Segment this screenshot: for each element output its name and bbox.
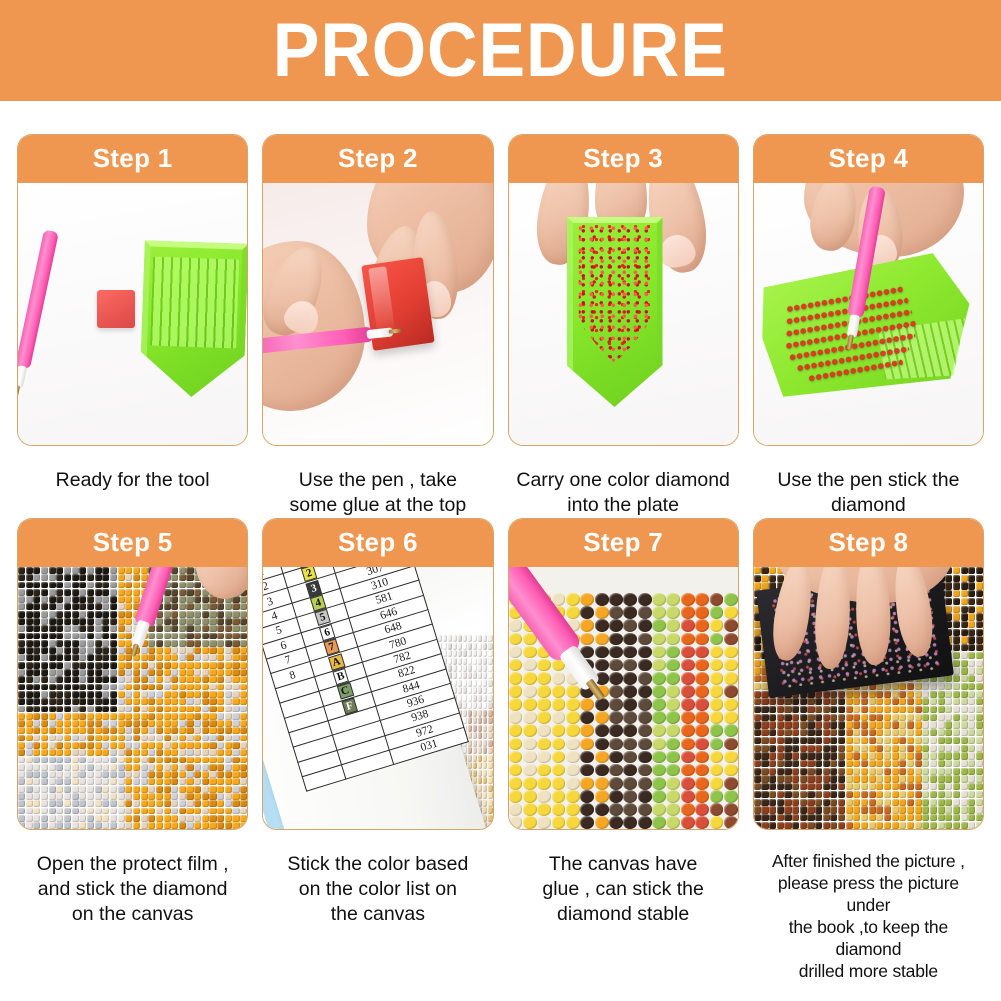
mosaic-pixel [681,619,695,632]
mosaic-pixel [202,706,209,713]
mosaic-pixel [838,729,845,736]
mosaic-pixel [792,783,799,790]
mosaic-pixel [777,760,784,767]
mosaic-pixel [186,771,193,778]
mosaic-pixel [961,598,968,605]
mosaic-pixel [56,596,63,603]
step-card-3[interactable]: Step 3 [508,134,739,446]
step-cell-4: Step 4 [753,134,984,518]
mosaic-pixel [133,669,140,676]
mosaic-pixel [724,711,738,724]
mosaic-pixel [141,698,148,705]
mosaic-pixel [217,815,224,822]
mosaic-pixel [945,706,952,713]
mosaic-pixel [609,659,623,672]
mosaic-pixel [652,790,666,803]
mosaic-pixel [148,778,155,785]
mosaic-pixel [652,711,666,724]
mosaic-pixel [79,808,86,815]
step-card-6[interactable]: Step 6 Symbol Stitches DMC 112 [262,518,493,830]
mosaic-pixel [125,567,132,574]
mosaic-pixel [56,582,63,589]
mosaic-pixel [87,808,94,815]
mosaic-pixel [56,771,63,778]
mosaic-pixel [133,582,140,589]
step-card-2[interactable]: Step 2 [262,134,493,446]
mosaic-pixel [761,806,768,813]
mosaic-pixel [884,691,891,698]
mosaic-pixel [148,720,155,727]
mosaic-pixel [922,729,929,736]
mosaic-pixel [87,676,94,683]
mosaic-pixel [110,757,117,764]
mosaic-pixel [907,760,914,767]
mosaic-pixel [56,589,63,596]
mosaic-pixel [869,737,876,744]
mosaic-pixel [784,752,791,759]
mosaic-pixel [815,752,822,759]
mosaic-pixel [846,768,853,775]
mosaic-pixel [892,760,899,767]
mosaic-pixel [853,799,860,806]
mosaic-pixel [171,815,178,822]
mosaic-pixel [225,662,232,669]
mosaic-pixel [79,793,86,800]
mosaic-pixel [87,654,94,661]
mosaic-pixel [566,711,580,724]
mosaic-pixel [240,684,247,691]
mosaic-pixel [156,633,163,640]
step-card-7[interactable]: Step 7 [508,518,739,830]
mosaic-pixel [609,633,623,646]
mosaic-pixel [695,593,709,606]
mosaic-pixel [968,791,975,798]
mosaic-pixel [125,713,132,720]
mosaic-pixel [102,749,109,756]
mosaic-pixel [953,590,960,597]
mosaic-pixel [968,606,975,613]
mosaic-pixel [869,729,876,736]
mosaic-pixel [33,727,40,734]
mosaic-pixel [33,771,40,778]
mosaic-pixel [761,575,768,582]
mosaic-pixel [95,676,102,683]
mosaic-pixel [976,606,983,613]
mosaic-pixel [552,790,566,803]
mosaic-pixel [638,711,652,724]
mosaic-pixel [95,596,102,603]
mosaic-pixel [800,814,807,821]
mosaic-pixel [148,735,155,742]
mosaic-pixel [681,659,695,672]
mosaic-pixel [41,815,48,822]
mosaic-pixel [961,683,968,690]
mosaic-pixel [907,806,914,813]
mosaic-pixel [968,567,975,574]
mosaic-pixel [118,727,125,734]
mosaic-pixel [171,618,178,625]
mosaic-pixel [225,669,232,676]
mosaic-pixel [148,706,155,713]
mosaic-pixel [156,800,163,807]
mosaic-pixel [49,786,56,793]
mosaic-pixel [945,691,952,698]
mosaic-pixel [133,691,140,698]
mosaic-pixel [156,676,163,683]
mosaic-pixel [56,742,63,749]
mosaic-pixel [225,778,232,785]
mosaic-pixel [194,596,201,603]
mosaic-pixel [523,751,537,764]
mosaic-pixel [72,757,79,764]
mosaic-pixel [64,786,71,793]
mosaic-pixel [754,729,761,736]
mosaic-pixel [976,590,983,597]
mosaic-pixel [754,675,761,682]
mosaic-pixel [33,742,40,749]
mosaic-pixel [225,618,232,625]
mosaic-pixel [638,685,652,698]
mosaic-pixel [623,711,637,724]
mosaic-pixel [56,706,63,713]
mosaic-pixel [710,672,724,685]
mosaic-pixel [580,764,594,777]
mosaic-pixel [141,793,148,800]
mosaic-pixel [179,640,186,647]
mosaic-pixel [171,589,178,596]
mosaic-pixel [953,760,960,767]
mosaic-pixel [938,691,945,698]
mosaic-pixel [18,662,25,669]
mosaic-pixel [800,752,807,759]
mosaic-pixel [33,786,40,793]
mosaic-pixel [580,751,594,764]
mosaic-pixel [18,618,25,625]
mosaic-pixel [56,647,63,654]
mosaic-pixel [580,619,594,632]
mosaic-pixel [102,662,109,669]
mosaic-pixel [26,822,33,829]
mosaic-pixel [623,738,637,751]
mosaic-pixel [566,751,580,764]
mosaic-pixel [792,721,799,728]
mosaic-pixel [777,729,784,736]
mosaic-pixel [49,574,56,581]
mosaic-pixel [695,606,709,619]
mosaic-pixel [907,729,914,736]
mosaic-pixel [56,720,63,727]
mosaic-pixel [823,691,830,698]
mosaic-pixel [695,685,709,698]
mosaic-pixel [945,783,952,790]
mosaic-pixel [217,633,224,640]
mosaic-pixel [95,713,102,720]
mosaic-pixel [232,735,239,742]
mosaic-pixel [907,714,914,721]
mosaic-pixel [523,698,537,711]
mosaic-pixel [710,619,724,632]
mosaic-pixel [26,742,33,749]
mosaic-pixel [609,751,623,764]
mosaic-pixel [623,790,637,803]
mosaic-pixel [754,814,761,821]
mosaic-pixel [225,793,232,800]
mosaic-pixel [18,676,25,683]
mosaic-pixel [179,786,186,793]
mosaic-pixel [915,791,922,798]
mosaic-pixel [64,800,71,807]
mosaic-pixel [102,764,109,771]
mosaic-pixel [72,662,79,669]
mosaic-pixel [202,757,209,764]
mosaic-pixel [754,660,761,667]
mosaic-pixel [118,611,125,618]
mosaic-pixel [225,603,232,610]
mosaic-pixel [945,683,952,690]
mosaic-pixel [217,676,224,683]
mosaic-pixel [79,582,86,589]
mosaic-pixel [595,738,609,751]
mosaic-pixel [777,714,784,721]
mosaic-pixel [33,720,40,727]
mosaic-pixel [552,751,566,764]
mosaic-pixel [95,786,102,793]
mosaic-pixel [118,603,125,610]
mosaic-pixel [892,721,899,728]
step-card-1[interactable]: Step 1 [17,134,248,446]
mosaic-pixel [225,800,232,807]
mosaic-pixel [72,574,79,581]
mosaic-pixel [33,654,40,661]
mosaic-pixel [56,808,63,815]
mosaic-pixel [110,640,117,647]
mosaic-pixel [110,793,117,800]
mosaic-pixel [807,714,814,721]
mosaic-pixel [217,713,224,720]
mosaic-pixel [148,727,155,734]
mosaic-pixel [79,713,86,720]
mosaic-pixel [777,799,784,806]
mosaic-pixel [209,713,216,720]
mosaic-pixel [164,749,171,756]
mosaic-pixel [18,647,25,654]
step-card-8[interactable]: Step 8 [753,518,984,830]
mosaic-pixel [217,749,224,756]
mosaic-pixel [846,737,853,744]
mosaic-pixel [225,698,232,705]
mosaic-pixel [232,698,239,705]
mosaic-pixel [72,676,79,683]
mosaic-pixel [830,698,837,705]
mosaic-pixel [186,611,193,618]
mosaic-pixel [72,640,79,647]
mosaic-pixel [171,582,178,589]
mosaic-pixel [953,814,960,821]
mosaic-pixel [666,790,680,803]
mosaic-pixel [907,768,914,775]
mosaic-pixel [194,633,201,640]
mosaic-pixel [72,815,79,822]
mosaic-pixel [118,596,125,603]
mosaic-pixel [976,706,983,713]
mosaic-pixel [141,786,148,793]
mosaic-pixel [754,737,761,744]
mosaic-pixel [754,806,761,813]
mosaic-pixel [899,691,906,698]
mosaic-pixel [681,803,695,816]
mosaic-pixel [72,596,79,603]
mosaic-pixel [976,683,983,690]
step-card-4[interactable]: Step 4 [753,134,984,446]
mosaic-pixel [930,791,937,798]
mosaic-pixel [846,691,853,698]
mosaic-pixel [18,808,25,815]
mosaic-pixel [64,567,71,574]
mosaic-pixel [623,685,637,698]
mosaic-pixel [623,606,637,619]
mosaic-pixel [179,815,186,822]
mosaic-pixel [830,799,837,806]
mosaic-pixel [64,596,71,603]
mosaic-pixel [800,783,807,790]
mosaic-pixel [953,621,960,628]
mosaic-pixel [87,822,94,829]
mosaic-pixel [56,749,63,756]
mosaic-pixel [240,625,247,632]
mosaic-pixel [102,640,109,647]
mosaic-pixel [968,675,975,682]
mosaic-pixel [56,691,63,698]
mosaic-pixel [194,676,201,683]
step-image-4 [754,183,983,445]
mosaic-pixel [769,567,776,574]
mosaic-pixel [953,698,960,705]
mosaic-pixel [681,698,695,711]
mosaic-pixel [652,816,666,829]
mosaic-pixel [225,749,232,756]
mosaic-pixel [18,822,25,829]
mosaic-pixel [899,752,906,759]
mosaic-pixel [72,786,79,793]
mosaic-pixel [899,706,906,713]
mosaic-pixel [869,706,876,713]
mosaic-pixel [792,752,799,759]
mosaic-pixel [186,669,193,676]
mosaic-pixel [125,735,132,742]
step-header-6: Step 6 [263,519,492,567]
mosaic-pixel [26,654,33,661]
mosaic-pixel [125,691,132,698]
mosaic-pixel [853,822,860,829]
mosaic-pixel [186,589,193,596]
mosaic-pixel [769,799,776,806]
mosaic-pixel [876,814,883,821]
mosaic-pixel [156,757,163,764]
mosaic-pixel [823,775,830,782]
mosaic-pixel [133,727,140,734]
mosaic-pixel [18,669,25,676]
scene-tray-with-red-diamonds [509,183,738,445]
mosaic-pixel [179,742,186,749]
mosaic-pixel [240,727,247,734]
mosaic-pixel [125,611,132,618]
mosaic-pixel [95,808,102,815]
mosaic-pixel [41,676,48,683]
mosaic-pixel [87,749,94,756]
mosaic-pixel [133,778,140,785]
mosaic-pixel [79,633,86,640]
mosaic-pixel [823,706,830,713]
mosaic-pixel [961,636,968,643]
mosaic-pixel [148,793,155,800]
mosaic-pixel [41,640,48,647]
mosaic-pixel [861,768,868,775]
mosaic-pixel [907,752,914,759]
mosaic-pixel [102,793,109,800]
mosaic-pixel [922,783,929,790]
mosaic-pixel [710,633,724,646]
mosaic-pixel [49,647,56,654]
mosaic-pixel [638,764,652,777]
mosaic-pixel [125,757,132,764]
mosaic-pixel [961,590,968,597]
mosaic-pixel [56,764,63,771]
mosaic-pixel [666,738,680,751]
mosaic-pixel [652,751,666,764]
mosaic-pixel [922,706,929,713]
mosaic-pixel [792,706,799,713]
mosaic-pixel [892,714,899,721]
step-card-5[interactable]: Step 5 [17,518,248,830]
mosaic-pixel [232,640,239,647]
mosaic-pixel [148,698,155,705]
mosaic-pixel [869,783,876,790]
mosaic-pixel [968,598,975,605]
mosaic-pixel [171,640,178,647]
mosaic-pixel [681,646,695,659]
mosaic-pixel [724,606,738,619]
mosaic-pixel [815,737,822,744]
mosaic-pixel [118,676,125,683]
mosaic-pixel [232,822,239,829]
mosaic-pixel [784,814,791,821]
mosaic-pixel [953,683,960,690]
mosaic-pixel [194,684,201,691]
page-title: PROCEDURE [273,12,728,90]
mosaic-pixel [968,706,975,713]
mosaic-pixel [125,793,132,800]
mosaic-pixel [141,735,148,742]
mosaic-pixel [710,738,724,751]
mosaic-pixel [225,786,232,793]
mosaic-pixel [102,684,109,691]
mosaic-pixel [769,768,776,775]
sunflower-mosaic [18,567,247,829]
mosaic-pixel [133,749,140,756]
mosaic-pixel [186,713,193,720]
mosaic-pixel [202,596,209,603]
mosaic-pixel [892,729,899,736]
mosaic-pixel [580,738,594,751]
mosaic-pixel [976,783,983,790]
mosaic-pixel [792,791,799,798]
mosaic-pixel [523,816,537,829]
mosaic-pixel [968,822,975,829]
mosaic-pixel [566,803,580,816]
mosaic-pixel [79,662,86,669]
mosaic-pixel [79,625,86,632]
mosaic-pixel [861,814,868,821]
